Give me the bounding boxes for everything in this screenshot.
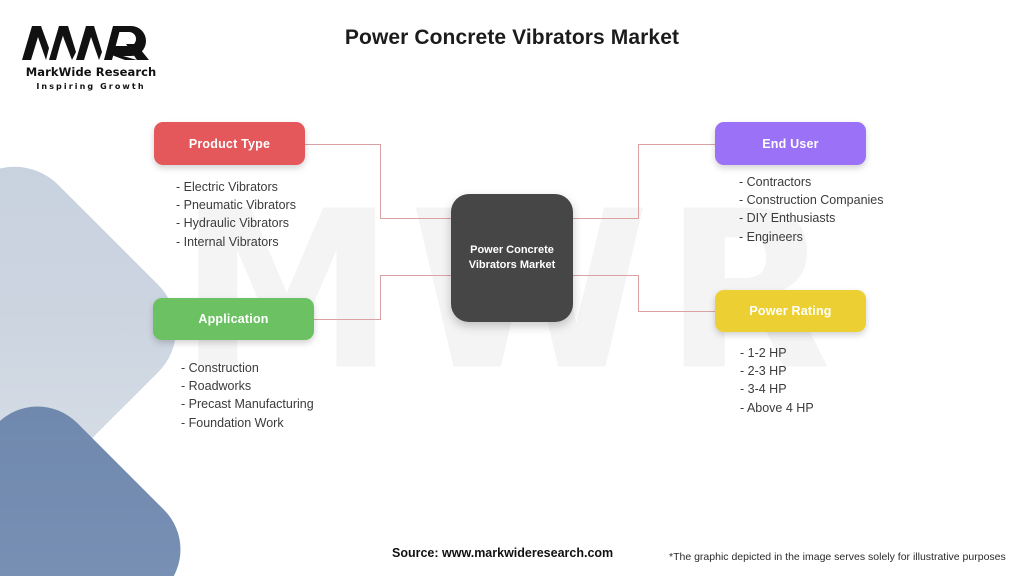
connector-power-rating-h2 — [638, 311, 716, 312]
list-item: - Contractors — [739, 173, 884, 191]
list-item: - Construction — [181, 359, 314, 377]
connector-power-rating-v — [638, 275, 639, 312]
category-box-application[interactable]: Application — [153, 298, 314, 340]
list-item: - Construction Companies — [739, 191, 884, 209]
category-list-end-user: - Contractors - Construction Companies -… — [739, 173, 884, 246]
category-list-product-type: - Electric Vibrators - Pneumatic Vibrato… — [176, 178, 296, 251]
logo-company-name: MarkWide Research — [16, 65, 166, 79]
list-item: - Electric Vibrators — [176, 178, 296, 196]
list-item: - Roadworks — [181, 377, 314, 395]
list-item: - Internal Vibrators — [176, 233, 296, 251]
disclaimer-text: *The graphic depicted in the image serve… — [669, 551, 1006, 563]
list-item: - Precast Manufacturing — [181, 395, 314, 413]
list-item: - 3-4 HP — [740, 380, 814, 398]
page-title: Power Concrete Vibrators Market — [0, 26, 1024, 50]
connector-application-h1 — [314, 319, 381, 320]
category-box-end-user[interactable]: End User — [715, 122, 866, 165]
connector-application-v — [380, 275, 381, 320]
connector-product-type-v — [380, 144, 381, 219]
category-label-end-user: End User — [762, 137, 818, 151]
list-item: - Engineers — [739, 228, 884, 246]
list-item: - 1-2 HP — [740, 344, 814, 362]
list-item: - Above 4 HP — [740, 399, 814, 417]
list-item: - Foundation Work — [181, 414, 314, 432]
category-list-power-rating: - 1-2 HP - 2-3 HP - 3-4 HP - Above 4 HP — [740, 344, 814, 417]
category-label-power-rating: Power Rating — [749, 304, 831, 318]
central-hub-line2: Vibrators Market — [469, 258, 556, 273]
logo-tagline: Inspiring Growth — [16, 82, 166, 91]
source-label: Source: www.markwideresearch.com — [392, 546, 613, 560]
category-box-power-rating[interactable]: Power Rating — [715, 290, 866, 332]
list-item: - Hydraulic Vibrators — [176, 214, 296, 232]
category-label-product-type: Product Type — [189, 137, 270, 151]
central-hub[interactable]: Power Concrete Vibrators Market — [451, 194, 573, 322]
connector-product-type-h1 — [305, 144, 381, 145]
list-item: - Pneumatic Vibrators — [176, 196, 296, 214]
central-hub-line1: Power Concrete — [469, 243, 556, 258]
category-box-product-type[interactable]: Product Type — [154, 122, 305, 165]
central-hub-label: Power Concrete Vibrators Market — [469, 243, 556, 273]
connector-end-user-h2 — [638, 144, 716, 145]
category-list-application: - Construction - Roadworks - Precast Man… — [181, 359, 314, 432]
list-item: - DIY Enthusiasts — [739, 209, 884, 227]
market-segmentation-infographic: MWR MarkWide Research Inspiring Growth P… — [0, 0, 1024, 576]
category-label-application: Application — [198, 312, 268, 326]
connector-end-user-v — [638, 144, 639, 219]
list-item: - 2-3 HP — [740, 362, 814, 380]
